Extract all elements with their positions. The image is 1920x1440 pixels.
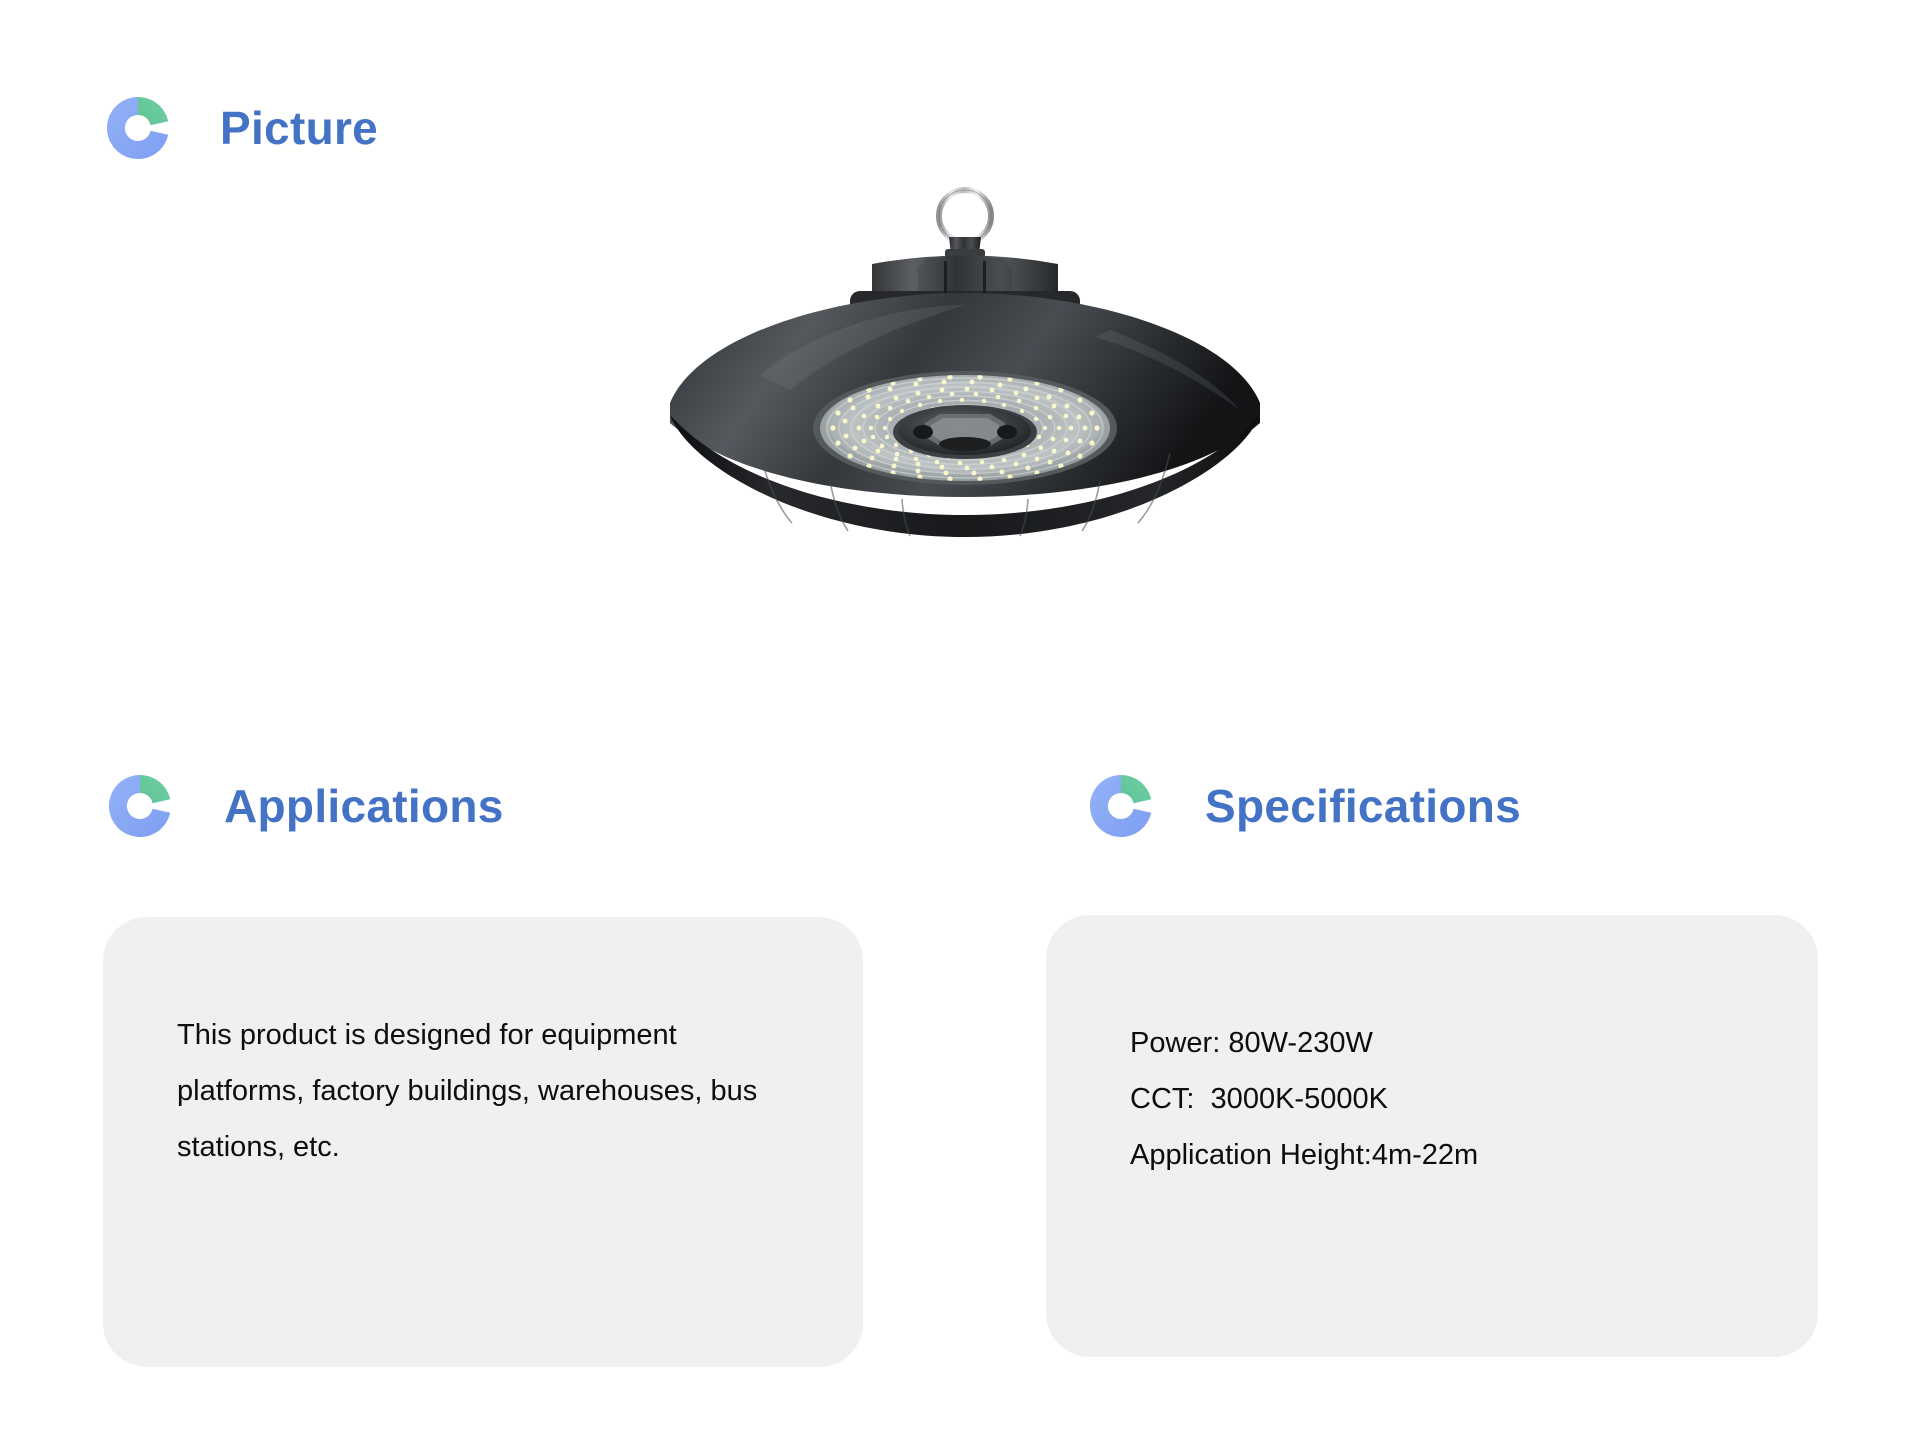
section-header-picture: Picture [102,92,378,164]
page-title: Picture [220,105,378,151]
brand-c-icon [102,92,174,164]
applications-card: This product is designed for equipment p… [103,917,863,1367]
spec-line-power: Power: 80W-230W [1130,1015,1770,1071]
applications-body-text: This product is designed for equipment p… [177,1007,797,1175]
led-ufo-high-bay-light-image [640,185,1290,555]
section-header-applications: Applications [104,770,504,842]
spec-line-cct: CCT: 3000K-5000K [1130,1071,1770,1127]
specifications-card: Power: 80W-230W CCT: 3000K-5000K Applica… [1046,915,1818,1357]
specifications-title: Specifications [1205,783,1521,829]
brand-c-icon [104,770,176,842]
spec-line-height: Application Height:4m-22m [1130,1127,1770,1183]
brand-c-icon [1085,770,1157,842]
applications-title: Applications [224,783,504,829]
section-header-specifications: Specifications [1085,770,1521,842]
product-spec-sheet: Picture [0,0,1920,1440]
specifications-body-text: Power: 80W-230W CCT: 3000K-5000K Applica… [1130,1015,1770,1183]
